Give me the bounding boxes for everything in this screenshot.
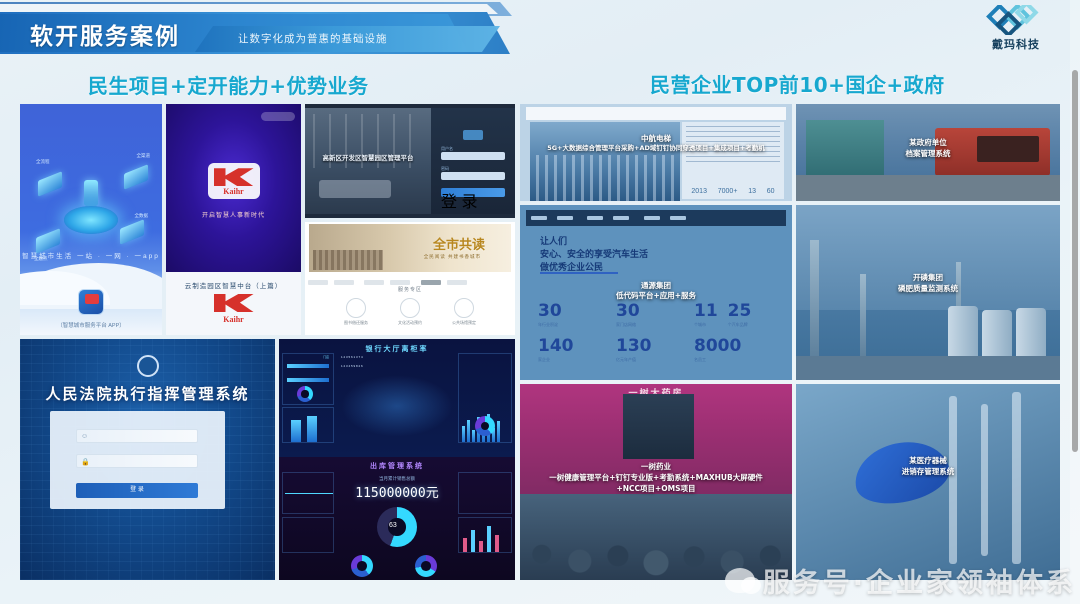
right-gallery-panel: 2013 7000+ 13 60 中航电梯 5G+大数据综合管理平台采购+AD域… xyxy=(520,104,1060,580)
nav-item[interactable] xyxy=(557,216,573,220)
dashboard-num-row: 1 2 3 4 5 9 8 2 6 xyxy=(341,364,363,369)
platform-logo-icon xyxy=(463,130,483,140)
stats-row: 30 年行业积淀 30 家门店网络 11 个城市 25 个汽车品牌 xyxy=(538,301,782,328)
site-nav[interactable] xyxy=(305,274,515,283)
card-court-system[interactable]: 人民法院执行指挥管理系统 ☺ 🔒 登 录 xyxy=(20,339,275,580)
stat-value: 2013 xyxy=(691,188,707,195)
isometric-node-icon xyxy=(38,171,62,197)
card-caption-detail: 进销存管理系统 xyxy=(796,467,1060,476)
card-kailin-group[interactable]: 开磷集团 磷肥质量监测系统 xyxy=(796,205,1060,380)
login-form-pane: 用户名 密码 登 录 xyxy=(431,108,515,214)
stat-label: 名员工 xyxy=(694,357,772,363)
stat-value: 30 xyxy=(616,301,694,321)
banner-subtitle: 全民阅读 共建书香城市 xyxy=(424,254,481,260)
app-tagline: 智慧城市生活 一站 · 一网 · 一app xyxy=(20,250,162,260)
card-caption: 云制造园区智慧中台（上篇） xyxy=(166,280,301,290)
funnel-chart xyxy=(282,517,334,553)
kaihr-logo-icon: Kaihr xyxy=(212,294,256,324)
banner-title: 全市共读 xyxy=(433,234,485,253)
card-medical-device[interactable]: 某医疗器械 进销存管理系统 xyxy=(796,384,1060,580)
stat-cell: 30 年行业积淀 xyxy=(538,301,616,328)
stat-row: 2013 7000+ 13 60 xyxy=(686,188,780,195)
dashboard-num-row: 1 2 3 5 6 1 3 7 4 xyxy=(341,355,363,360)
scrollbar-thumb[interactable] xyxy=(1072,70,1078,452)
isometric-node-icon xyxy=(124,164,148,190)
court-emblem-icon xyxy=(137,355,159,377)
card-caption-detail: 档案管理系统 xyxy=(796,149,1060,158)
app-icon xyxy=(78,289,104,315)
stat-value: 30 xyxy=(538,301,616,321)
dashboard-bottom-title: 出库管理系统 xyxy=(279,461,515,471)
kaihr-wordmark: Kaihr xyxy=(212,315,256,324)
skip-badge[interactable] xyxy=(261,112,295,121)
iso-label: 全渠道 xyxy=(137,153,151,159)
dashboard-widget xyxy=(282,353,334,405)
stat-value: 130 xyxy=(616,336,694,356)
iso-label: 全数据 xyxy=(135,213,149,219)
nav-item[interactable] xyxy=(531,216,547,220)
service-label: 公共场馆预定 xyxy=(452,320,476,326)
stat-value: 60 xyxy=(767,188,775,195)
page-header: 软开服务案例 让数字化成为普惠的基础设施 戴玛科技 xyxy=(0,0,1080,58)
donut-chart xyxy=(351,555,373,577)
card-caption-detail: 一树健康管理平台+钉钉专业版+考勤系统+MAXHUB大屏硬件 xyxy=(520,473,792,482)
donut-chart xyxy=(297,386,313,402)
dashboard-widget xyxy=(282,407,334,443)
gauge-chart xyxy=(377,507,417,547)
service-label: 图书借还服务 xyxy=(344,320,368,326)
company-slogan: 让人们 安心、安全的享受汽车生活 做优秀企业公民 xyxy=(540,235,648,274)
stat-label: 家门店网络 xyxy=(616,322,694,328)
stat-cell: 130 亿元年产值 xyxy=(616,336,694,363)
nav-item[interactable] xyxy=(447,280,467,285)
login-button[interactable]: 登 录 xyxy=(441,188,505,197)
nav-item[interactable] xyxy=(390,280,410,285)
section-label: 服务专区 xyxy=(305,286,515,293)
court-system-title: 人民法院执行指挥管理系统 xyxy=(20,383,275,404)
section-title-right: 民营企业TOP前10+国企+政府 xyxy=(650,69,945,98)
iso-label: 全流程 xyxy=(36,159,50,165)
username-input[interactable] xyxy=(441,152,505,160)
stat-value: 7000+ xyxy=(718,188,738,195)
tube-shape xyxy=(981,404,988,557)
stat-cell: 11 个城市 25 个汽车品牌 xyxy=(694,301,772,328)
ground-shape xyxy=(796,356,1060,380)
court-login-box: ☺ 🔒 登 录 xyxy=(50,411,225,509)
section-title-left: 民生项目+定开能力+优势业务 xyxy=(88,70,369,99)
service-icon-item[interactable]: 文化活动预约 xyxy=(398,298,422,326)
site-nav[interactable] xyxy=(526,210,786,226)
nav-item[interactable] xyxy=(334,280,354,285)
brand-logo: 戴玛科技 xyxy=(968,5,1064,55)
radar-chart xyxy=(458,472,512,514)
user-icon: ☺ xyxy=(81,433,89,441)
donut-chart xyxy=(475,416,495,436)
calendar-icon xyxy=(400,298,420,318)
stat-value: 140 xyxy=(538,336,616,356)
card-caption-title: 一树药业 xyxy=(520,462,792,471)
nav-item-active[interactable] xyxy=(421,280,441,285)
stat-cell: 30 家门店网络 xyxy=(616,301,694,328)
road-shape xyxy=(796,175,1060,201)
stat-cell: 8000 名员工 xyxy=(694,336,772,363)
storage-tank-shape xyxy=(948,306,978,358)
crowd-photo xyxy=(520,494,792,580)
splash-screen: Kaihr 开启智慧人事新时代 xyxy=(166,104,301,272)
service-icon-item[interactable]: 图书借还服务 xyxy=(344,298,368,326)
dashboard-widget xyxy=(458,353,512,443)
isometric-node-icon xyxy=(120,219,144,245)
stat-value: 11 xyxy=(694,301,718,321)
stat-label: 个城市 xyxy=(694,322,718,328)
stats-row: 140 家企业 130 亿元年产值 8000 名员工 xyxy=(538,336,782,363)
nav-item[interactable] xyxy=(587,216,603,220)
card-caption-title: 某政府单位 xyxy=(796,138,1060,147)
storage-tank-shape xyxy=(982,310,1012,358)
username-input[interactable]: ☺ xyxy=(76,429,198,443)
splash-slogan: 开启智慧人事新时代 xyxy=(166,210,301,219)
gauge-value: 63 xyxy=(389,523,397,528)
venue-icon xyxy=(454,298,474,318)
card-caption-detail: 5G+大数据综合管理平台采购+AD域钉钉协同穿透项目+集成项目+考勤机 xyxy=(520,144,792,152)
service-icon-item[interactable]: 公共场馆预定 xyxy=(452,298,476,326)
stat-label: 个汽车品牌 xyxy=(728,322,752,328)
kaihr-wordmark: Kaihr xyxy=(208,187,260,196)
area-chart xyxy=(282,472,334,514)
card-caption-title: 开磷集团 xyxy=(796,273,1060,282)
service-icon-row: 图书借还服务 文化活动预约 公共场馆预定 xyxy=(305,298,515,326)
stat-value: 8000 xyxy=(694,336,772,356)
login-button[interactable]: 登 录 xyxy=(76,483,198,498)
lock-icon: 🔒 xyxy=(81,458,89,466)
bar-chart xyxy=(458,517,512,553)
stat-value: 25 xyxy=(728,301,752,321)
stat-label: 年行业积淀 xyxy=(538,322,616,328)
nav-item[interactable] xyxy=(364,280,384,285)
card-caption-title: 某医疗器械 xyxy=(796,456,1060,465)
card-kaihr-splash[interactable]: Kaihr 开启智慧人事新时代 云制造园区智慧中台（上篇） Kaihr xyxy=(166,104,301,335)
site-banner: 全市共读 全民阅读 共建书香城市 xyxy=(309,224,511,272)
isometric-hub-icon xyxy=(64,206,118,234)
nav-item[interactable] xyxy=(308,280,328,285)
tube-shape xyxy=(1012,392,1021,564)
brand-name: 戴玛科技 xyxy=(968,36,1064,52)
nav-item[interactable] xyxy=(613,216,629,220)
chimney-shape xyxy=(810,240,819,358)
nav-item[interactable] xyxy=(670,216,686,220)
china-map-chart xyxy=(341,375,453,437)
card-caption-title: 中航电梯 xyxy=(520,134,792,143)
card-minsheng-app[interactable]: 全流程 全渠道 全数据 全触点 智慧城市生活 一站 · 一网 · 一app （智… xyxy=(20,104,162,335)
card-caption-title: 通源集团 xyxy=(520,281,792,290)
card-bigdata-dashboard[interactable]: 银行大厅离柜率 1 2 3 5 6 1 3 7 4 1 2 3 4 5 9 8 … xyxy=(279,339,515,580)
store-entrance xyxy=(623,394,694,460)
site-topbar xyxy=(526,107,786,120)
app-caption: （智慧城市服务平台 APP） xyxy=(20,321,162,329)
left-gallery-panel: 全流程 全渠道 全数据 全触点 智慧城市生活 一站 · 一网 · 一app （智… xyxy=(20,104,515,580)
nav-item[interactable] xyxy=(644,216,660,220)
stats-grid: 30 年行业积淀 30 家门店网络 11 个城市 25 个汽车品牌 xyxy=(538,301,782,371)
card-caption-detail2: +NCC项目+OMS项目 xyxy=(520,484,792,493)
storage-tank-shape xyxy=(1016,308,1046,358)
banner-crowd-photo xyxy=(313,250,383,270)
password-input[interactable] xyxy=(441,172,505,180)
kaihr-logo-icon: Kaihr xyxy=(208,163,260,199)
card-yishu-pharma[interactable]: 一树大药房 一树药业 一树健康管理平台+钉钉专业版+考勤系统+MAXHUB大屏硬… xyxy=(520,384,792,580)
service-label: 文化活动预约 xyxy=(398,320,422,326)
stat-value: 13 xyxy=(748,188,756,195)
card-caption-detail: 低代码平台+应用+服务 xyxy=(520,291,792,300)
page-title: 软开服务案例 xyxy=(30,17,180,51)
card-caption-detail: 磷肥质量监测系统 xyxy=(796,284,1060,293)
stat-label: 家企业 xyxy=(538,357,616,363)
sky-shape xyxy=(796,205,1060,310)
password-input[interactable]: 🔒 xyxy=(76,454,198,468)
slogan-line: 安心、安全的享受汽车生活 xyxy=(540,248,648,261)
book-icon xyxy=(346,298,366,318)
isometric-tower-icon xyxy=(84,180,98,206)
card-zhonghang-elevator[interactable]: 2013 7000+ 13 60 中航电梯 5G+大数据综合管理平台采购+AD域… xyxy=(520,104,792,201)
scrollbar-track[interactable] xyxy=(1070,0,1080,604)
tube-shape xyxy=(949,396,957,565)
slogan-underline xyxy=(540,272,618,274)
card-park-login[interactable]: 高新区开发区智慧园区管理平台 用户名 密码 登 录 xyxy=(305,104,515,218)
card-culture-site[interactable]: 全市共读 全民阅读 共建书香城市 服务专区 图书借还服务 文化活动预约 公共场馆… xyxy=(305,222,515,335)
slogan-line: 让人们 xyxy=(540,235,648,248)
donut-chart xyxy=(415,555,437,577)
stat-cell: 140 家企业 xyxy=(538,336,616,363)
card-tongyuan-group[interactable]: 让人们 安心、安全的享受汽车生活 做优秀企业公民 30 年行业积淀 30 家门店… xyxy=(520,205,792,380)
stat-label: 亿元年产值 xyxy=(616,357,694,363)
card-gov-archive[interactable]: 某政府单位 档案管理系统 xyxy=(796,104,1060,201)
platform-title: 高新区开发区智慧园区管理平台 xyxy=(305,152,431,162)
diamond-logo-icon xyxy=(984,5,1048,35)
page-subtitle: 让数字化成为普惠的基础设施 xyxy=(238,31,388,46)
